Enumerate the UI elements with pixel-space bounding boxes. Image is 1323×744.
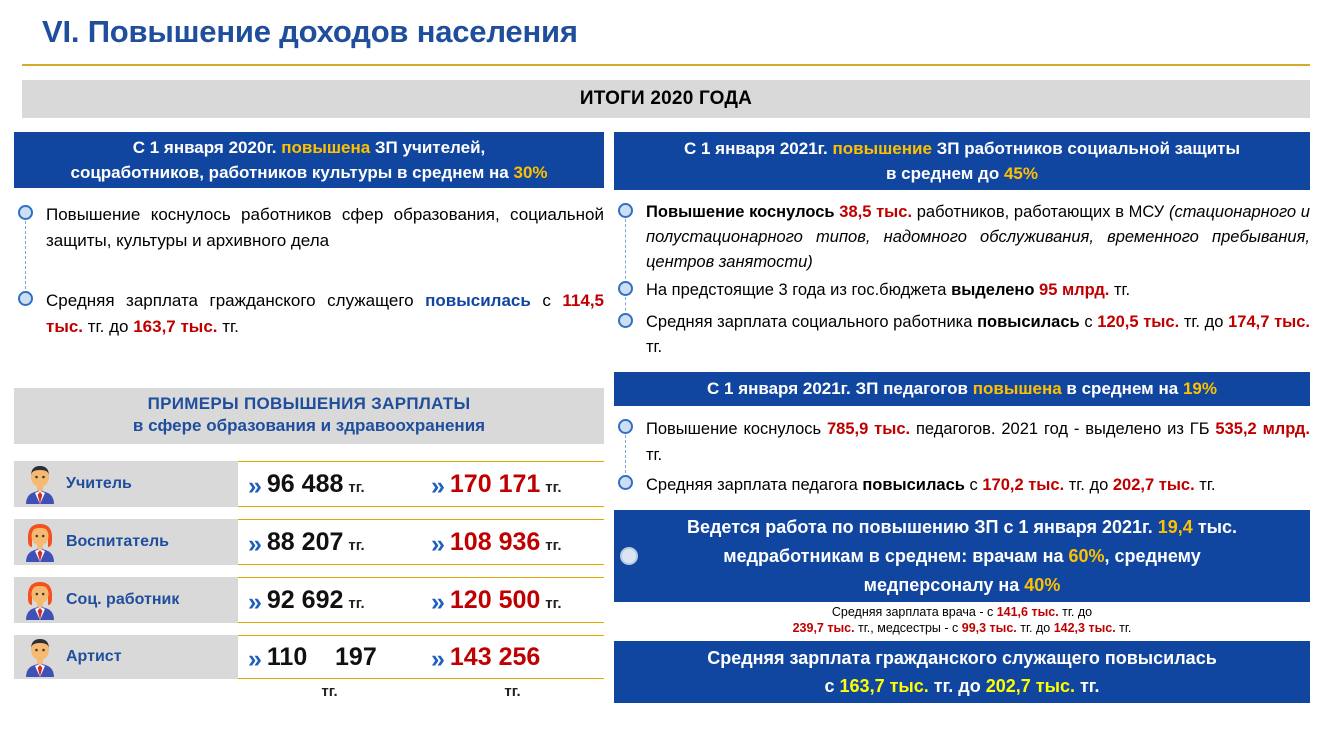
bullet-text-b: с [531,291,563,310]
profession-name: Воспитатель [66,533,169,551]
bullet-text-b: педагогов. 2021 год - выделено из ГБ [910,420,1215,438]
bullet-text: Средняя зарплата педагога повысилась с 1… [646,472,1310,498]
bullet-text-c: тг. до [1179,313,1228,331]
medical-text-a: Ведется работа по повышению ЗП [687,517,1004,537]
list-item: Средняя зарплата педагога повысилась с 1… [614,472,1310,498]
fineprint-text-a: Средняя зарплата врача - с [832,605,997,619]
salary-after: » 108 936 тг. [421,528,604,557]
civil-text-a: с [825,676,840,696]
medical-banner-line1: Ведется работа по повышению ЗП с 1 январ… [687,513,1237,542]
salary-after-unit: тг. [545,479,561,496]
teachers-banner-line: С 1 января 2021г. ЗП педагогов повышена … [707,379,1217,399]
bullet-text-a: Повышение коснулось [646,203,839,221]
bullet-text-bold: выделено [951,281,1034,299]
examples-header-line1: ПРИМЕРЫ ПОВЫШЕНИЯ ЗАРПЛАТЫ [14,394,604,414]
medical-text-f: медперсоналу на [864,575,1025,595]
social-banner-line2: в среднем до 45% [886,161,1038,186]
civil-salary-from: 163,7 тыс. [840,676,929,696]
civil-banner-line1: Средняя зарплата гражданского служащего … [707,644,1217,672]
value-amount: 95 млрд. [1039,281,1109,299]
salary-after-value: 143 256 [450,643,540,672]
fineprint-text-d: тг. до [1017,621,1054,635]
left-banner-percent: 30% [513,163,547,182]
chevron-right-icon: » [248,474,262,499]
salary-before: » 92 692 тг. [238,586,421,615]
social-banner-percent: 45% [1004,164,1038,183]
left-banner-highlight: повышена [281,138,370,157]
bullet-connector-line [25,221,26,294]
social-bullet-list: Повышение коснулось 38,5 тыс. работников… [614,200,1310,360]
value-from: 170,2 тыс. [982,476,1064,494]
bullet-text-a: Повышение коснулось [646,420,827,438]
chevron-right-icon: » [248,532,262,557]
chevron-right-icon: » [248,590,262,615]
value-to: 202,7 тыс. [1113,476,1195,494]
right-banner-civil: Средняя зарплата гражданского служащего … [614,641,1310,703]
medical-text-e: , среднему [1105,546,1201,566]
teachers-banner-highlight: повышена [973,379,1062,398]
avatar-woman-orange-hair-icon [22,522,58,562]
bullet-text-c: тг. [646,446,662,464]
bullet-text-d: тг. [218,317,239,336]
salary-before-value: 96 488 [267,470,343,499]
list-item: Средняя зарплата гражданского служащего … [14,288,604,340]
doctor-salary-to: 239,7 тыс. [793,621,855,635]
salary-after: » 120 500 тг. [421,586,604,615]
bullet-text: Повышение коснулось работников сфер обра… [46,202,604,254]
profession-cell: Воспитатель [14,519,238,565]
bullet-text-a: Средняя зарплата гражданского служащего [46,291,425,310]
medical-date: с 1 января 2021г. [1004,517,1153,537]
teachers-banner-text-b: в среднем на [1062,379,1183,398]
left-banner-line1: С 1 января 2020г. повышена ЗП учителей, [133,135,486,160]
list-item: Повышение коснулось работников сфер обра… [14,202,604,288]
civil-text-b: тг. до [929,676,986,696]
chevron-right-icon: » [248,647,262,672]
chevron-right-icon: » [431,532,445,557]
social-banner-text-a: С 1 января 2021г. [684,139,833,158]
bullet-text-a: Средняя зарплата педагога [646,476,862,494]
salary-after-unit: тг. [421,683,604,700]
salary-before-value: 92 692 [267,586,343,615]
avatar-man-dark-hair-icon [22,464,58,504]
bullet-text: Повышение коснулось 38,5 тыс. работников… [646,200,1310,275]
bullet-circle-icon [18,205,33,220]
profession-cell: Соц. работник [14,577,238,623]
salary-after-unit: тг. [545,595,561,612]
medical-fineprint: Средняя зарплата врача - с 141,6 тыс. тг… [614,602,1310,639]
salary-table: Учитель » 96 488 тг. » 170 171 тг. [14,461,604,700]
salary-units-row: тг. тг. [238,679,604,700]
left-banner-2020: С 1 января 2020г. повышена ЗП учителей, … [14,132,604,188]
bullet-circle-icon [18,291,33,306]
table-row: Учитель » 96 488 тг. » 170 171 тг. [14,461,604,507]
profession-name: Артист [66,648,122,666]
bullet-circle-icon [618,475,633,490]
bullet-text-c: тг. до [83,317,133,336]
bullet-text-c: тг. до [1064,476,1113,494]
value-to: 163,7 тыс. [133,317,217,336]
table-row: Воспитатель » 88 207 тг. » 108 936 тг. [14,519,604,565]
profession-cell: Учитель [14,461,238,507]
salary-before: » 88 207 тг. [238,528,421,557]
table-row: Соц. работник » 92 692 тг. » 120 500 тг. [14,577,604,623]
left-banner-line2: соцработников, работников культуры в сре… [70,160,547,185]
teachers-banner-percent: 19% [1183,379,1217,398]
bullet-text-a: На предстоящие 3 года из гос.бюджета [646,281,951,299]
bullet-circle-icon [618,419,633,434]
profession-name: Учитель [66,475,132,493]
social-banner-text-c: в среднем до [886,164,1004,183]
civil-salary-to: 202,7 тыс. [986,676,1075,696]
value-amount: 535,2 млрд. [1215,420,1310,438]
list-item: Повышение коснулось 38,5 тыс. работников… [614,200,1310,278]
bullet-text-b: с [965,476,982,494]
chevron-right-icon: » [431,474,445,499]
fineprint-line1: Средняя зарплата врача - с 141,6 тыс. тг… [654,604,1270,620]
right-column: С 1 января 2021г. повышение ЗП работнико… [614,132,1310,703]
bullet-circle-icon [618,203,633,218]
title-area: VI. Повышение доходов населения [0,10,1323,54]
salary-after-value: 170 171 [450,470,540,499]
right-banner-social: С 1 января 2021г. повышение ЗП работнико… [614,132,1310,190]
examples-header: ПРИМЕРЫ ПОВЫШЕНИЯ ЗАРПЛАТЫ в сфере образ… [14,388,604,444]
bullet-connector-line [625,219,626,284]
title-divider [22,64,1310,66]
list-item: Средняя зарплата социального работника п… [614,310,1310,360]
bullet-circle-icon [620,547,638,565]
right-banner-medical: Ведется работа по повышению ЗП с 1 январ… [614,510,1310,602]
salary-before-value: 88 207 [267,528,343,557]
salary-values: » 92 692 тг. » 120 500 тг. [238,577,604,623]
bullet-text-b: работников, работающих в МСУ [912,203,1169,221]
chevron-right-icon: » [431,590,445,615]
salary-before-unit: тг. [348,595,364,612]
profession-cell: Артист [14,635,238,679]
salary-after-value: 120 500 [450,586,540,615]
fineprint-text-b: тг. до [1059,605,1092,619]
salary-after-unit: тг. [545,537,561,554]
salary-before-unit: тг. [348,537,364,554]
salary-values: » 110 197 » 143 256 [238,635,604,679]
salary-after: » 143 256 [421,643,604,672]
medical-text-d: медработникам в среднем: врачам на [723,546,1068,566]
value-to: 174,7 тыс. [1228,313,1310,331]
bullet-circle-icon [618,281,633,296]
salary-values: » 88 207 тг. » 108 936 тг. [238,519,604,565]
nurse-salary-from: 99,3 тыс. [962,621,1017,635]
medical-text-c: тыс. [1193,517,1237,537]
left-column: С 1 января 2020г. повышена ЗП учителей, … [14,132,604,700]
avatar-man-dark-hair-icon [22,637,58,677]
bullet-text-b: с [1080,313,1098,331]
salary-before-value: 110 197 [267,643,377,672]
bullet-verb: повысилась [977,313,1080,331]
left-bullet-list: Повышение коснулось работников сфер обра… [14,202,604,340]
doctor-salary-from: 141,6 тыс. [997,605,1059,619]
medical-banner-line2: медработникам в среднем: врачам на 60%, … [723,542,1200,571]
bullet-text-d: тг. [646,338,662,356]
civil-banner-line2: с 163,7 тыс. тг. до 202,7 тыс. тг. [825,672,1100,700]
profession-name: Соц. работник [66,591,179,609]
bullet-text: Средняя зарплата социального работника п… [646,310,1310,360]
page-title: VI. Повышение доходов населения [0,10,1323,54]
results-band-label: ИТОГИ 2020 ГОДА [580,88,752,110]
bullet-text-d: тг. [1195,476,1216,494]
left-banner-text-a: С 1 января 2020г. [133,138,282,157]
bullet-text: Средняя зарплата гражданского служащего … [46,288,604,340]
left-banner-text-b: ЗП учителей, [370,138,485,157]
bullet-text: На предстоящие 3 года из гос.бюджета выд… [646,278,1310,303]
bullet-text: Повышение коснулось 785,9 тыс. педагогов… [646,416,1310,468]
salary-after-value: 108 936 [450,528,540,557]
civil-text-c: тг. [1075,676,1100,696]
left-banner-text-c: соцработников, работников культуры в сре… [70,163,513,182]
social-banner-text-b: ЗП работников социальной защиты [932,139,1240,158]
bullet-text-c: тг. [1109,281,1130,299]
medical-percent-nurses: 40% [1024,575,1060,595]
chevron-right-icon: » [431,647,445,672]
nurse-salary-to: 142,3 тыс. [1054,621,1116,635]
table-row: Артист » 110 197 » 143 256 [14,635,604,679]
bullet-circle-icon [618,313,633,328]
medical-banner-line3: медперсоналу на 40% [864,571,1061,600]
value-count: 38,5 тыс. [839,203,912,221]
list-item: Повышение коснулось 785,9 тыс. педагогов… [614,416,1310,472]
medical-count: 19,4 [1158,517,1193,537]
results-band: ИТОГИ 2020 ГОДА [22,80,1310,118]
medical-percent-doctors: 60% [1069,546,1105,566]
value-from: 120,5 тыс. [1097,313,1179,331]
salary-values: » 96 488 тг. » 170 171 тг. [238,461,604,507]
salary-before: » 110 197 [238,643,421,672]
bullet-verb: повысилась [862,476,965,494]
list-item: На предстоящие 3 года из гос.бюджета выд… [614,278,1310,310]
social-banner-highlight: повышение [832,139,931,158]
teacher-bullet-list: Повышение коснулось 785,9 тыс. педагогов… [614,416,1310,498]
bullet-text-a: Средняя зарплата социального работника [646,313,977,331]
salary-before-unit: тг. [348,479,364,496]
fineprint-line2: 239,7 тыс. тг., медсестры - с 99,3 тыс. … [654,620,1270,636]
right-banner-teachers: С 1 января 2021г. ЗП педагогов повышена … [614,372,1310,406]
social-banner-line1: С 1 января 2021г. повышение ЗП работнико… [684,136,1240,161]
salary-after: » 170 171 тг. [421,470,604,499]
avatar-woman-orange-hair-icon [22,580,58,620]
examples-header-line2: в сфере образования и здравоохранения [14,416,604,436]
salary-before-unit: тг. [238,683,421,700]
bullet-verb: повысилась [425,291,531,310]
teachers-banner-text-a: С 1 января 2021г. ЗП педагогов [707,379,973,398]
fineprint-text-e: тг. [1116,621,1132,635]
salary-before: » 96 488 тг. [238,470,421,499]
fineprint-text-c: тг., медсестры - с [855,621,962,635]
value-count: 785,9 тыс. [827,420,910,438]
